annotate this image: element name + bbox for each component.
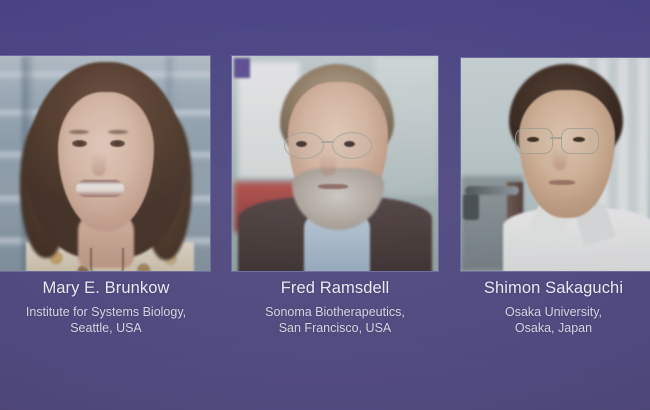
laureate-affiliation-line2: Seattle, USA xyxy=(0,321,212,337)
laureate-affiliation-line1: Institute for Systems Biology, xyxy=(0,305,212,321)
portrait-photo-fred-ramsdell xyxy=(232,56,438,271)
laureate-caption-3: Shimon Sakaguchi Osaka University, Osaka… xyxy=(457,278,650,336)
portrait-photo-mary-brunkow xyxy=(0,56,210,271)
laureate-name: Mary E. Brunkow xyxy=(0,278,212,298)
laureate-caption-1: Mary E. Brunkow Institute for Systems Bi… xyxy=(0,278,212,336)
laureate-affiliation-line1: Osaka University, xyxy=(457,305,650,321)
portrait-photo-shimon-sakaguchi xyxy=(461,58,650,271)
laureate-name: Shimon Sakaguchi xyxy=(457,278,650,298)
laureates-slide: Mary E. Brunkow Institute for Systems Bi… xyxy=(0,0,650,410)
laureate-name: Fred Ramsdell xyxy=(232,278,438,298)
laureate-affiliation-line1: Sonoma Biotherapeutics, xyxy=(232,305,438,321)
laureate-affiliation-line2: San Francisco, USA xyxy=(232,321,438,337)
laureate-affiliation-line2: Osaka, Japan xyxy=(457,321,650,337)
laureate-caption-2: Fred Ramsdell Sonoma Biotherapeutics, Sa… xyxy=(232,278,438,336)
